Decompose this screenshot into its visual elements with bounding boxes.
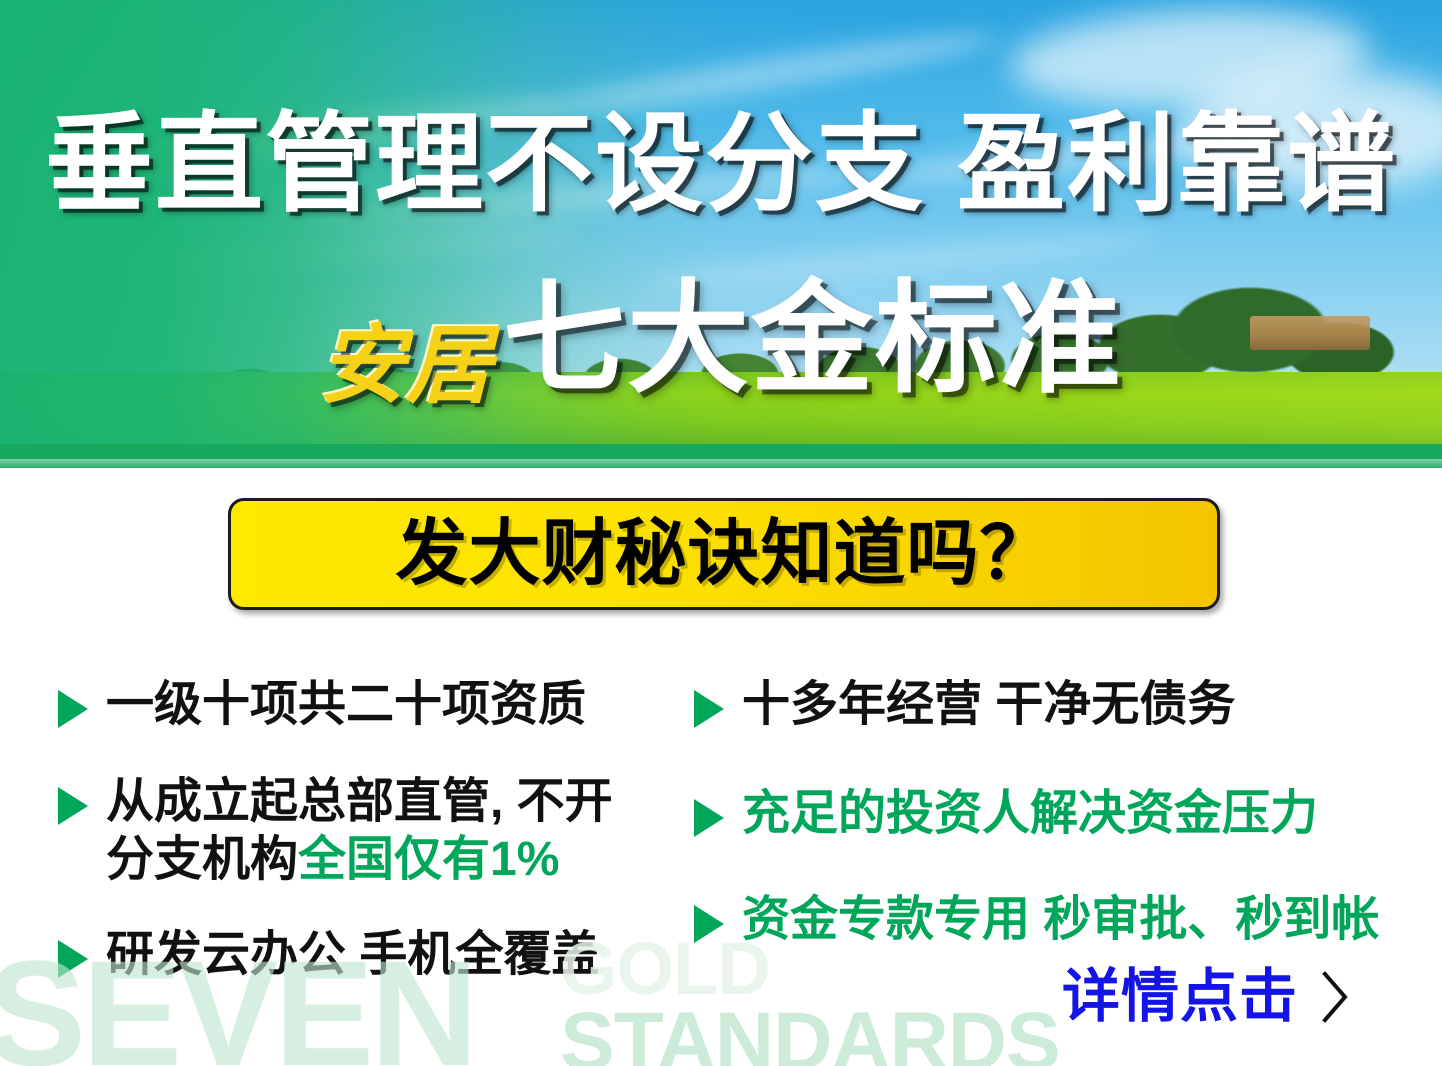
feature-text: 资金专款专用 秒审批、秒到帐 (742, 891, 1379, 950)
feature-text: 充足的投资人解决资金压力 (742, 785, 1318, 844)
question-banner[interactable]: 发大财秘诀知道吗？ (228, 498, 1220, 610)
feature-line: 十多年经营 干净无债务 (742, 676, 1235, 735)
feature-line: 研发云办公 手机全覆盖 (106, 926, 599, 985)
feature-line: 充足的投资人解决资金压力 (742, 785, 1318, 844)
chevron-right-icon (1320, 969, 1350, 1025)
watermark-standards: STANDARDS (560, 1004, 1060, 1066)
features-right-column: 十多年经营 干净无债务 充足的投资人解决资金压力 资金专款专用 秒审批、秒到帐 (694, 660, 1414, 950)
hero-bottom-band (0, 444, 1442, 468)
question-banner-label: 发大财秘诀知道吗？ (395, 518, 1052, 590)
feature-text: 一级十项共二十项资质 (106, 676, 586, 735)
feature-line: 一级十项共二十项资质 (106, 676, 586, 735)
triangle-right-icon (694, 799, 724, 837)
promotional-banner: 垂直管理不设分支 盈利靠谱 安居七大金标准 发大财秘诀知道吗？ 一级十项共二十项… (0, 0, 1442, 1066)
features-section: 一级十项共二十项资质 从成立起总部直管, 不开 分支机构全国仅有1% 研发云办公… (0, 660, 1442, 1000)
feature-item-years-operating: 十多年经营 干净无债务 (694, 676, 1414, 735)
triangle-right-icon (58, 787, 88, 825)
feature-item-cloud-office: 研发云办公 手机全覆盖 (58, 926, 698, 985)
hero-brand-name: 安居 (319, 318, 493, 414)
feature-item-headquarters-direct: 从成立起总部直管, 不开 分支机构全国仅有1% (58, 773, 698, 890)
feature-line-part: 分支机构 (106, 833, 298, 886)
hero-headline-primary: 垂直管理不设分支 盈利靠谱 (0, 110, 1442, 218)
triangle-right-icon (694, 690, 724, 728)
feature-line: 资金专款专用 秒审批、秒到帐 (742, 891, 1379, 950)
hero-headline-secondary: 七大金标准 (503, 271, 1123, 407)
feature-item-investors: 充足的投资人解决资金压力 (694, 785, 1414, 844)
feature-text: 十多年经营 干净无债务 (742, 676, 1235, 735)
feature-highlight-part: 全国仅有1% (298, 833, 559, 886)
feature-text: 从成立起总部直管, 不开 分支机构全国仅有1% (106, 773, 613, 890)
feature-line: 从成立起总部直管, 不开 (106, 773, 613, 832)
hero-band-highlight (0, 459, 1442, 468)
features-left-column: 一级十项共二十项资质 从成立起总部直管, 不开 分支机构全国仅有1% 研发云办公… (58, 660, 698, 984)
detail-link-label: 详情点击 (1062, 968, 1298, 1026)
hero-section: 垂直管理不设分支 盈利靠谱 安居七大金标准 (0, 0, 1442, 468)
triangle-right-icon (694, 905, 724, 943)
feature-text: 研发云办公 手机全覆盖 (106, 926, 599, 985)
detail-link[interactable]: 详情点击 (1062, 968, 1350, 1026)
triangle-right-icon (58, 940, 88, 978)
hero-headline-secondary-row: 安居七大金标准 (0, 278, 1442, 409)
feature-item-qualifications: 一级十项共二十项资质 (58, 676, 698, 735)
feature-line: 分支机构全国仅有1% (106, 831, 613, 890)
feature-item-dedicated-funds: 资金专款专用 秒审批、秒到帐 (694, 891, 1414, 950)
triangle-right-icon (58, 690, 88, 728)
